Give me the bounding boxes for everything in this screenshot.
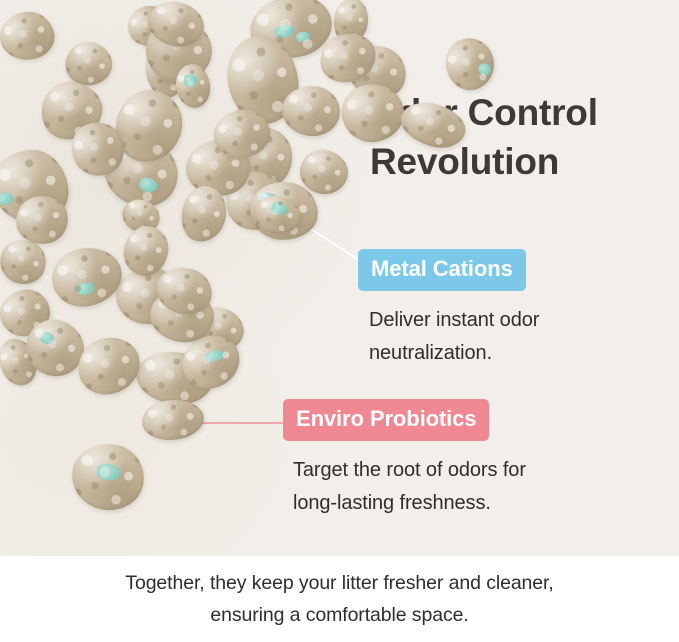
- metal-cations-description: Deliver instant odor neutralization.: [358, 304, 539, 370]
- footer-line-1: Together, they keep your litter fresher …: [125, 567, 553, 599]
- enviro-probiotics-badge: Enviro Probiotics: [283, 399, 489, 441]
- probiotic-speck: [204, 349, 226, 364]
- footer-panel: Together, they keep your litter fresher …: [0, 556, 679, 642]
- callout-enviro-probiotics: Enviro Probiotics Target the root of odo…: [283, 399, 526, 520]
- probiotic-speck: [477, 62, 492, 77]
- probiotic-speck: [274, 23, 296, 39]
- probiotic-speck: [39, 331, 55, 346]
- product-infographic: Odor ControlRevolution Metal Cations Del…: [0, 0, 679, 642]
- probiotic-speck: [96, 462, 122, 482]
- probiotic-speck: [295, 31, 311, 43]
- probiotic-speck: [138, 176, 159, 194]
- probiotic-speck: [0, 192, 14, 206]
- page-title-line-2: Revolution: [370, 141, 559, 182]
- enviro-probiotics-leader-line: [190, 422, 284, 424]
- hero-panel: Odor ControlRevolution Metal Cations Del…: [0, 0, 679, 556]
- probiotic-speck: [75, 281, 95, 296]
- probiotic-speck: [183, 73, 198, 87]
- footer-line-2: ensuring a comfortable space.: [210, 599, 468, 631]
- enviro-probiotics-description: Target the root of odors for long-lastin…: [283, 454, 526, 520]
- callout-metal-cations: Metal Cations Deliver instant odor neutr…: [358, 249, 539, 370]
- probiotic-speck: [270, 201, 288, 216]
- metal-cations-badge: Metal Cations: [358, 249, 526, 291]
